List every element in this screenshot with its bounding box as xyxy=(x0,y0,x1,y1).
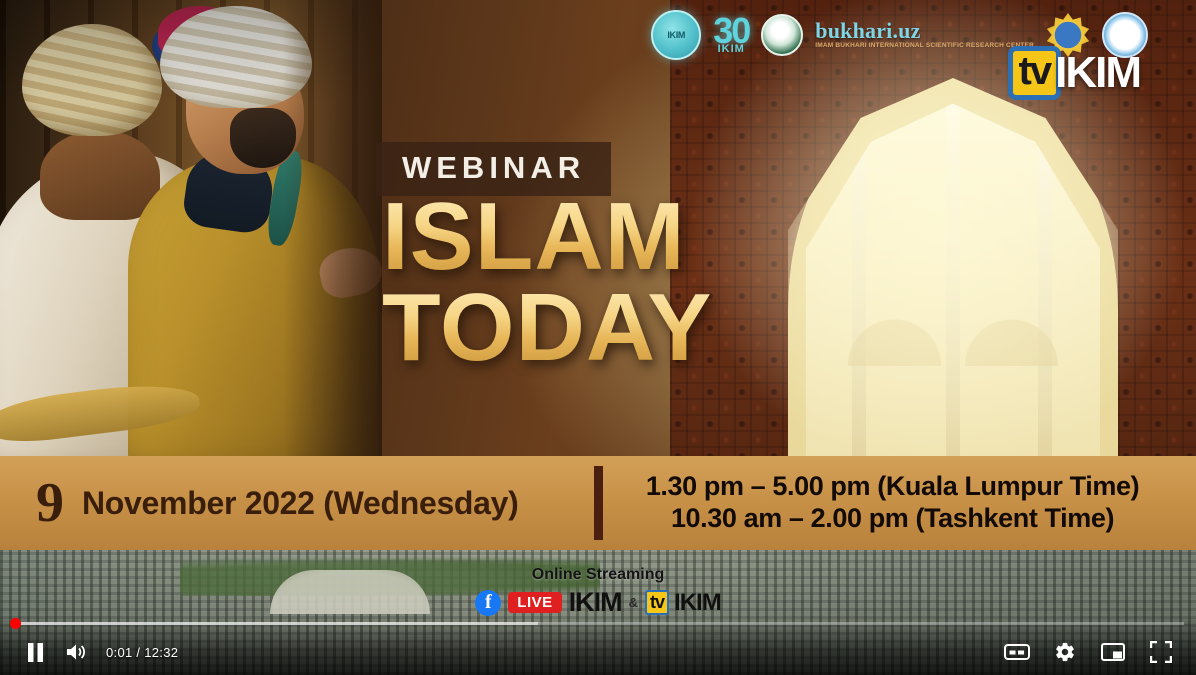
volume-button[interactable] xyxy=(56,631,98,673)
painting-vignette xyxy=(0,0,382,462)
event-date-block: 9 November 2022 (Wednesday) xyxy=(0,475,594,531)
title-line-1: ISLAM xyxy=(382,196,712,279)
ikim-seal-text: IKIM xyxy=(667,30,685,40)
online-streaming-block: Online Streaming f LIVE IKIM & tv IKIM xyxy=(0,566,1196,618)
player-controls[interactable]: 0:01 / 12:32 xyxy=(0,617,1196,675)
poster-title: ISLAM TODAY xyxy=(382,196,712,369)
anniversary-sub: IKIM xyxy=(718,45,745,54)
webinar-badge-label: WEBINAR xyxy=(402,150,585,185)
event-date-rest: November 2022 (Wednesday) xyxy=(82,485,519,522)
subtitles-button[interactable] xyxy=(996,631,1038,673)
miniplayer-button[interactable] xyxy=(1092,631,1134,673)
arch-arcade xyxy=(836,246,1070,366)
settings-button[interactable] xyxy=(1044,631,1086,673)
anniversary-number: 30 xyxy=(713,16,749,46)
online-streaming-label: Online Streaming xyxy=(532,566,664,584)
info-bar-divider xyxy=(594,466,603,540)
bukhari-subtitle: IMAM BUKHARI INTERNATIONAL SCIENTIFIC RE… xyxy=(815,43,1034,50)
progress-scrubber-handle[interactable] xyxy=(10,618,21,629)
bukhari-domain: bukhari.uz xyxy=(815,20,1034,42)
streaming-channel-two: IKIM xyxy=(674,589,721,617)
streaming-channel-one: IKIM xyxy=(569,587,622,618)
miniplayer-icon xyxy=(1101,642,1125,662)
tvikim-logo: tv IKIM xyxy=(1008,46,1140,100)
pause-button[interactable] xyxy=(14,631,56,673)
streaming-channels-row: f LIVE IKIM & tv IKIM xyxy=(475,587,720,618)
event-info-bar: 9 November 2022 (Wednesday) 1.30 pm – 5.… xyxy=(0,456,1196,550)
progress-bar[interactable] xyxy=(0,621,1196,626)
progress-buffered xyxy=(12,622,538,625)
streaming-separator: & xyxy=(629,595,638,610)
video-frame[interactable]: IKIM 30 IKIM bukhari.uz IMAM BUKHARI INT… xyxy=(0,0,1196,675)
pause-icon xyxy=(27,643,44,662)
bukhari-wordmark: bukhari.uz IMAM BUKHARI INTERNATIONAL SC… xyxy=(815,20,1034,50)
event-time-line-1: 1.30 pm – 5.00 pm (Kuala Lumpur Time) xyxy=(603,471,1182,503)
event-date-day: 9 xyxy=(36,475,64,531)
scholars-painting xyxy=(0,0,382,462)
live-badge: LIVE xyxy=(508,592,561,613)
tv-prefix: tv xyxy=(1008,46,1062,100)
volume-icon xyxy=(65,642,89,662)
bukhari-seal-icon xyxy=(761,14,803,56)
video-player[interactable]: IKIM 30 IKIM bukhari.uz IMAM BUKHARI INT… xyxy=(0,0,1196,675)
tv-brand: IKIM xyxy=(1055,53,1140,93)
streaming-tv-prefix: tv xyxy=(645,590,669,615)
fullscreen-button[interactable] xyxy=(1140,631,1182,673)
event-time-block: 1.30 pm – 5.00 pm (Kuala Lumpur Time) 10… xyxy=(603,471,1196,535)
gear-icon xyxy=(1054,641,1076,663)
title-line-2: TODAY xyxy=(382,287,712,370)
event-time-line-2: 10.30 am – 2.00 pm (Tashkent Time) xyxy=(603,503,1182,535)
facebook-icon: f xyxy=(475,590,501,616)
controls-row: 0:01 / 12:32 xyxy=(0,629,1196,675)
closed-captions-icon xyxy=(1004,643,1030,661)
controls-right-group xyxy=(996,631,1182,673)
fullscreen-icon xyxy=(1150,641,1172,663)
anniversary-30-logo: 30 IKIM xyxy=(713,16,749,55)
ikim-seal-icon: IKIM xyxy=(651,10,701,60)
time-display: 0:01 / 12:32 xyxy=(106,645,178,660)
